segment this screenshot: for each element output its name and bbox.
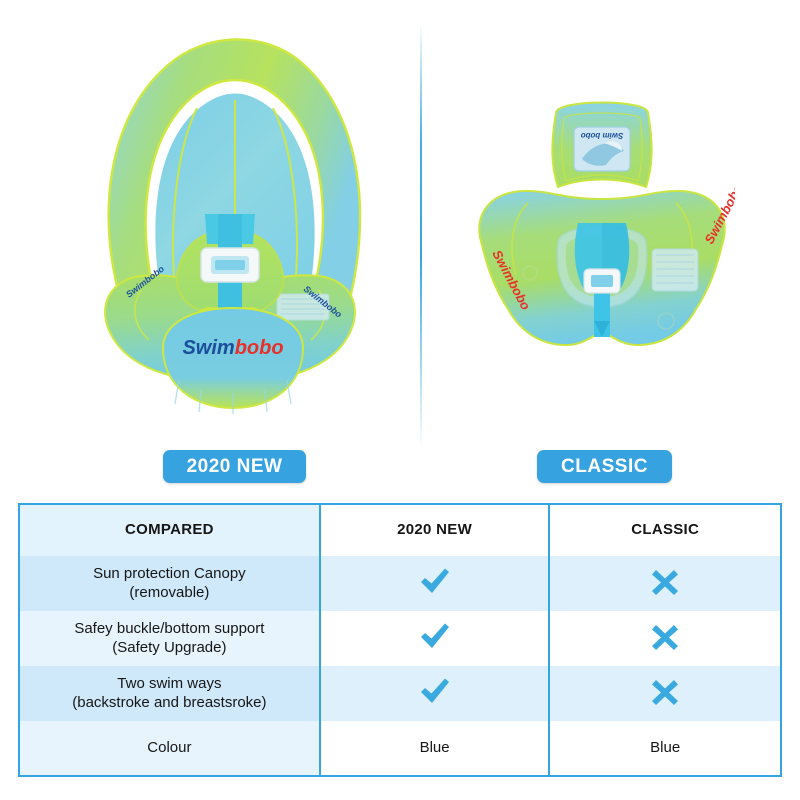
feature-cell: Colour: [19, 721, 320, 776]
cross-icon: [648, 676, 682, 706]
header-cell-classic: CLASSIC: [549, 504, 781, 556]
check-icon: [418, 676, 452, 706]
comparison-table: COMPARED 2020 NEW CLASSIC Sun protection…: [18, 503, 782, 777]
value-cell-2020-new: Blue: [320, 721, 550, 776]
badge-classic[interactable]: CLASSIC: [537, 450, 672, 483]
vertical-divider: [420, 22, 422, 450]
cross-icon: [648, 566, 682, 596]
table-row: Safey buckle/bottom support (Safety Upgr…: [19, 611, 781, 666]
value-cell-2020-new: [320, 611, 550, 666]
safety-buckle: [201, 248, 259, 282]
badge-classic-label: CLASSIC: [561, 456, 648, 478]
safety-buckle: [584, 269, 620, 293]
value-cell-classic: [549, 556, 781, 611]
table-row: Colour Blue Blue: [19, 721, 781, 776]
feature-cell: Two swim ways (backstroke and breastsrok…: [19, 666, 320, 721]
feature-cell: Sun protection Canopy (removable): [19, 556, 320, 611]
feature-line-2: (Safety Upgrade): [26, 639, 313, 658]
product-image-classic[interactable]: Swim bobo Swimbobo: [470, 95, 735, 435]
feature-line-1: Sun protection Canopy: [26, 565, 313, 584]
brand-logo-swimbobo: Swimbobo: [182, 337, 283, 359]
table-row: Sun protection Canopy (removable): [19, 556, 781, 611]
header-cell-2020-new: 2020 NEW: [320, 504, 550, 556]
cross-icon: [648, 621, 682, 651]
product-showcase: Swimbobo Swimbobo: [0, 0, 800, 495]
value-cell-2020-new: [320, 556, 550, 611]
svg-text:Swim bobo: Swim bobo: [581, 131, 624, 140]
dolphin-logo-patch: Swim bobo: [574, 127, 630, 171]
feature-line-1: Two swim ways: [26, 675, 313, 694]
value-cell-classic: [549, 666, 781, 721]
value-cell-2020-new: [320, 666, 550, 721]
bottom-support-pad: Swimbobo: [163, 308, 303, 414]
check-icon: [418, 621, 452, 651]
feature-line-1: Safey buckle/bottom support: [26, 620, 313, 639]
feature-line-1: Colour: [26, 739, 313, 758]
product-image-2020-new[interactable]: Swimbobo Swimbobo: [55, 8, 405, 433]
feature-cell: Safey buckle/bottom support (Safety Upgr…: [19, 611, 320, 666]
table-header-row: COMPARED 2020 NEW CLASSIC: [19, 504, 781, 556]
badge-2020-new-label: 2020 NEW: [187, 456, 283, 478]
table-row: Two swim ways (backstroke and breastsrok…: [19, 666, 781, 721]
feature-line-2: (backstroke and breastsroke): [26, 694, 313, 713]
value-cell-classic: [549, 611, 781, 666]
header-cell-compared: COMPARED: [19, 504, 320, 556]
badge-2020-new[interactable]: 2020 NEW: [163, 450, 306, 483]
feature-line-2: (removable): [26, 584, 313, 603]
check-icon: [418, 566, 452, 596]
value-cell-classic: Blue: [549, 721, 781, 776]
